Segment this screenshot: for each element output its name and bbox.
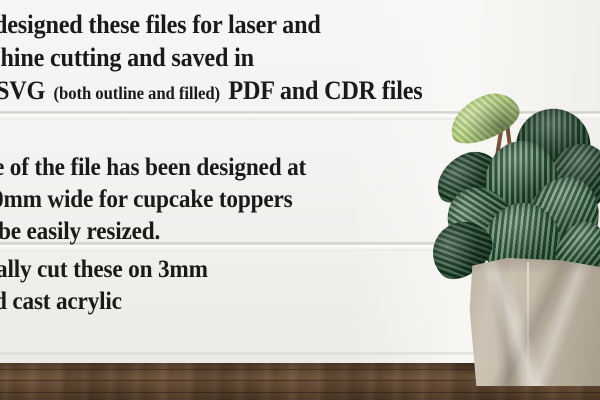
paper-bag-crease bbox=[527, 262, 529, 386]
overlay-text-line: be easily resized. bbox=[0, 216, 306, 248]
overlay-text-line: 0mm wide for cupcake toppers bbox=[0, 184, 306, 216]
file-format-note: (both outline and filled) bbox=[54, 83, 220, 103]
file-format-svg: SVG bbox=[0, 76, 45, 105]
overlay-text-line: ally cut these on 3mm bbox=[0, 254, 306, 286]
overlay-text-block-bottom: e of the file has been designed at 0mm w… bbox=[0, 152, 330, 318]
overlay-text-line: chine cutting and saved in bbox=[0, 41, 422, 74]
wood-plank-seam bbox=[0, 392, 600, 393]
product-photo-scene: designed these files for laser and chine… bbox=[0, 0, 600, 400]
kraft-paper-bag-planter bbox=[467, 258, 600, 386]
overlay-text-block-top: designed these files for laser and chine… bbox=[0, 8, 455, 110]
overlay-text-line: designed these files for laser and bbox=[0, 8, 422, 41]
paper-crumple-folds bbox=[467, 258, 600, 386]
file-format-tail: PDF and CDR files bbox=[228, 76, 422, 105]
overlay-text-line: d cast acrylic bbox=[0, 286, 306, 318]
overlay-text-line-formats: SVG(both outline and filled)PDF and CDR … bbox=[0, 74, 423, 110]
overlay-text-line: e of the file has been designed at bbox=[0, 152, 306, 184]
